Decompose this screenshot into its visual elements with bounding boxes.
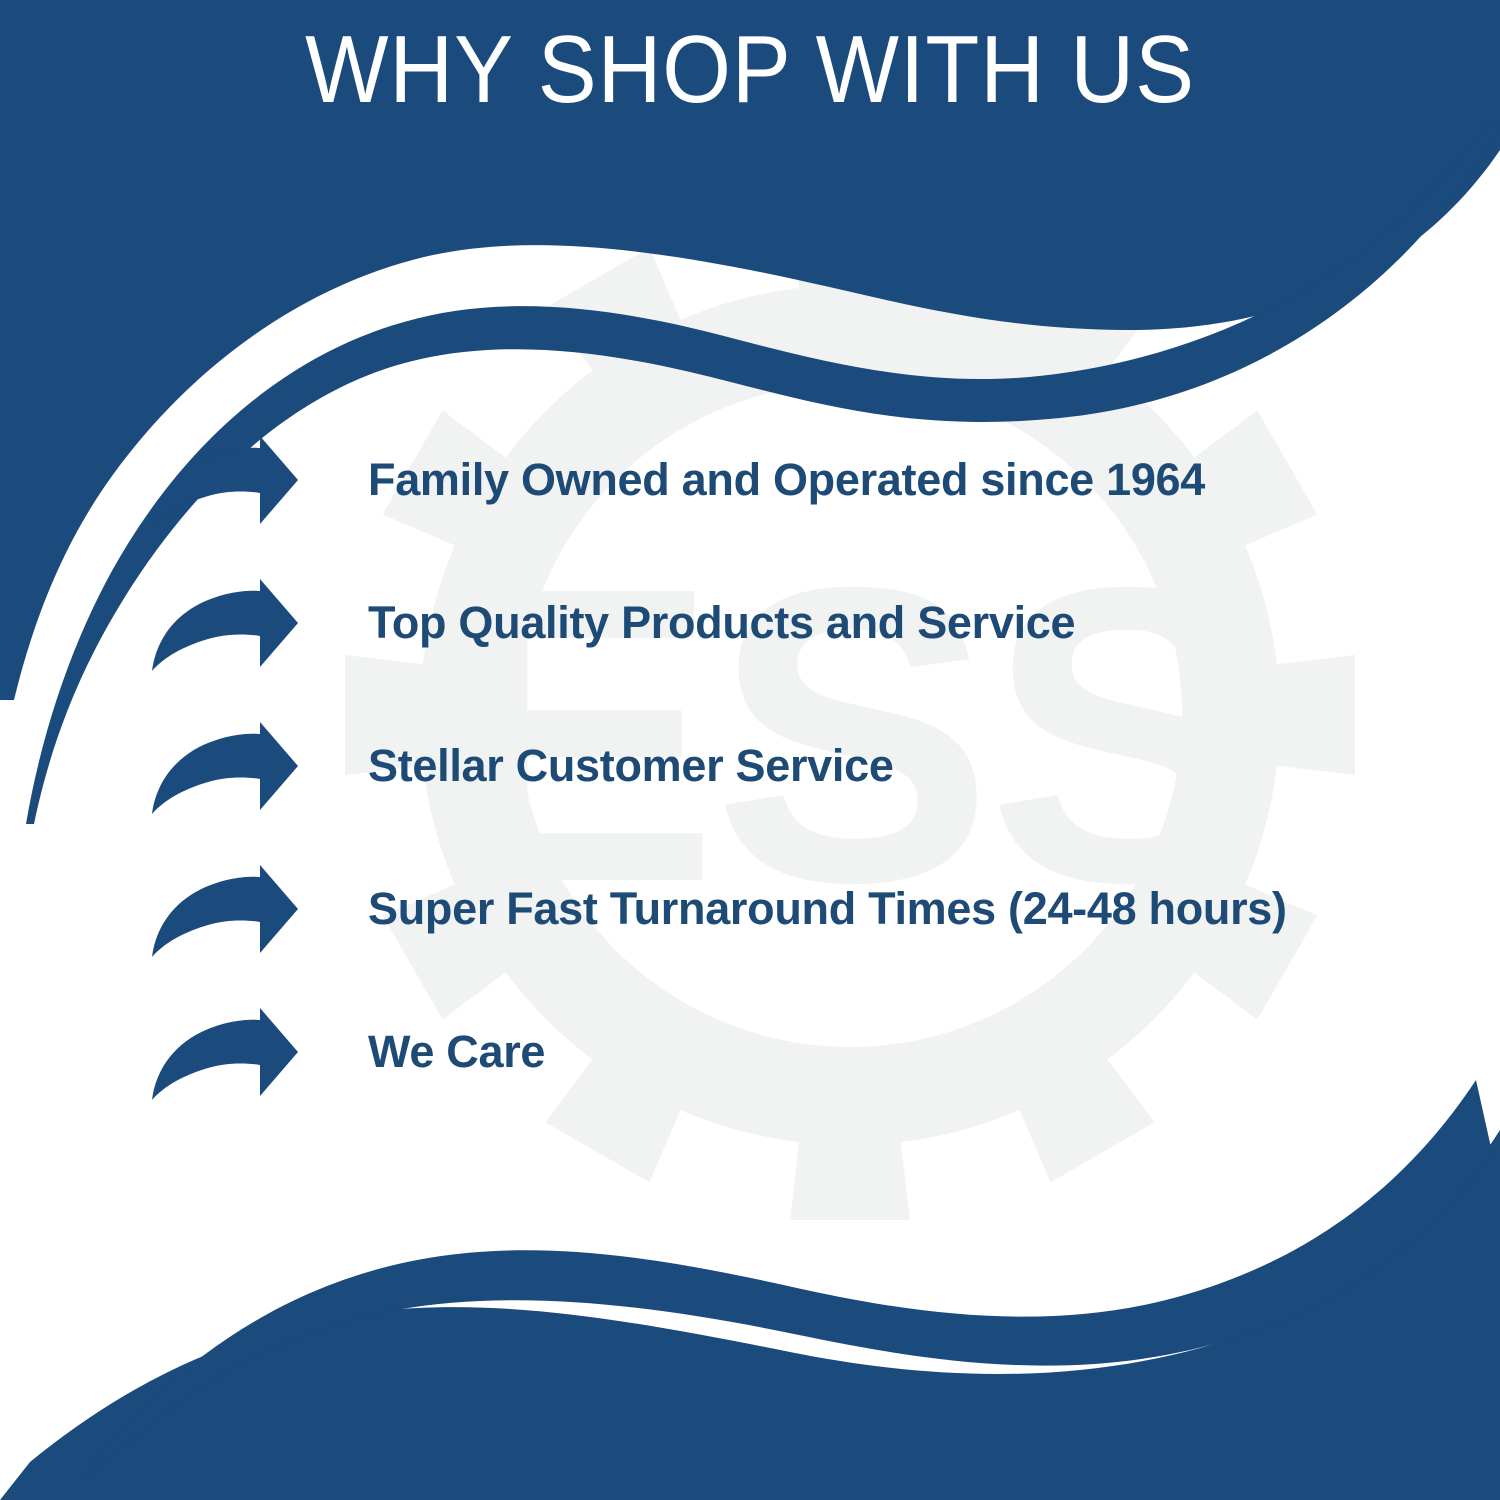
benefit-item: Family Owned and Operated since 1964 [150,432,1450,575]
benefit-item: Stellar Customer Service [150,718,1450,861]
curved-arrow-icon [150,1008,300,1103]
curved-arrow-icon [150,436,300,531]
benefit-item: We Care [150,1004,1450,1147]
benefit-label: Super Fast Turnaround Times (24-48 hours… [368,861,1450,956]
benefit-item: Top Quality Products and Service [150,575,1450,718]
benefit-label: Stellar Customer Service [368,718,1450,813]
wave-bottom-shape [0,1130,1500,1500]
curved-arrow-icon [150,579,300,674]
benefit-label: We Care [368,1004,1450,1099]
poster-canvas: ESS WHY SHOP WITH US Family Owned and Op… [0,0,1500,1500]
benefit-label: Top Quality Products and Service [368,575,1450,670]
curved-arrow-icon [150,865,300,960]
curved-arrow-icon [150,722,300,817]
benefit-item: Super Fast Turnaround Times (24-48 hours… [150,861,1450,1004]
benefits-list: Family Owned and Operated since 1964 Top… [150,432,1450,1147]
benefit-label: Family Owned and Operated since 1964 [368,432,1450,527]
page-title: WHY SHOP WITH US [60,18,1440,122]
